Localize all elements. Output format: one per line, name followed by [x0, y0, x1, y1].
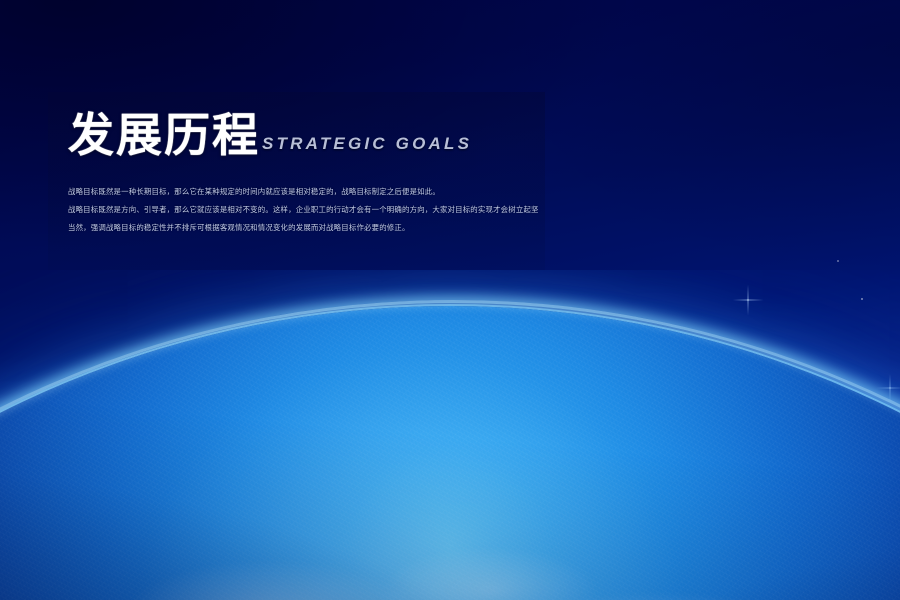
body-paragraph: 当然，强调战略目标的稳定性并不排斥可根据客观情况和情况变化的发展而对战略目标作必… [68, 222, 538, 234]
banner-stage: 发展历程 STRATEGIC GOALS 战略目标既然是一种长期目标，那么它在某… [0, 0, 900, 600]
earth-globe [0, 306, 900, 600]
body-paragraph: 战略目标既然是一种长期目标，那么它在某种规定的时间内就应该是相对稳定的，战略目标… [68, 186, 538, 198]
page-title: 发展历程 [68, 112, 260, 158]
earth-terminator-shading [0, 306, 900, 600]
headline: 发展历程 STRATEGIC GOALS [68, 112, 472, 158]
body-paragraph: 战略目标既然是方向、引导者，那么它就应该是相对不变的。这样，企业职工的行动才会有… [68, 204, 538, 216]
earth-container [0, 270, 900, 600]
page-subtitle: STRATEGIC GOALS [262, 134, 472, 158]
body-copy: 战略目标既然是一种长期目标，那么它在某种规定的时间内就应该是相对稳定的，战略目标… [68, 186, 538, 240]
